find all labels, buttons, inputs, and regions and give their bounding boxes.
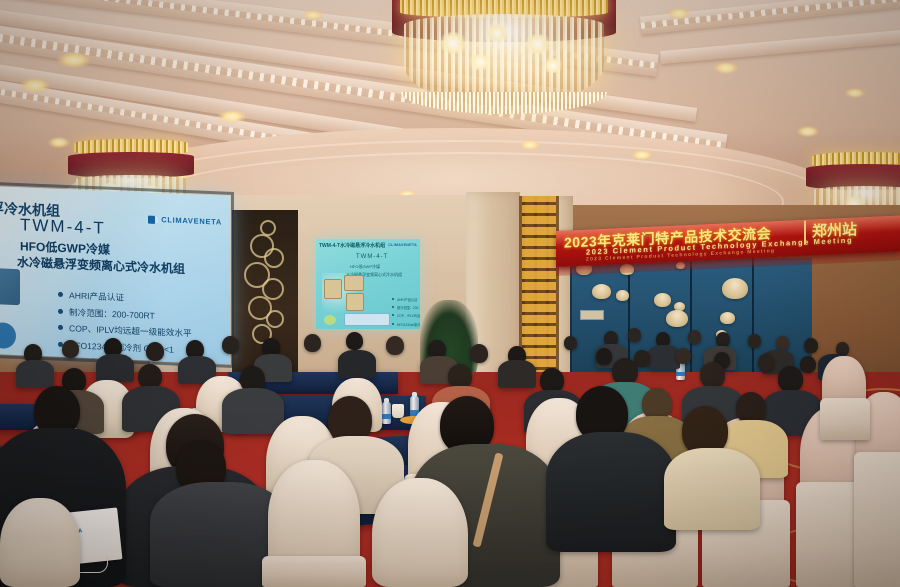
chandelier-glow — [468, 54, 492, 70]
shell-medallion-icon — [722, 278, 748, 299]
chandelier-glow — [524, 34, 552, 54]
shell-medallion-icon — [720, 312, 735, 324]
attendee-body — [222, 388, 284, 434]
paper-cup — [392, 404, 404, 418]
attendee-head — [612, 358, 638, 385]
attendee-head — [564, 336, 577, 350]
attendee-head — [776, 336, 789, 350]
attendee-head — [748, 334, 761, 348]
water-bottle — [382, 402, 391, 424]
secondary-slide-badge — [324, 315, 336, 325]
shell-medallion-icon — [654, 293, 671, 307]
attendee-head — [470, 344, 488, 363]
attendee-head — [346, 332, 363, 350]
secondary-slide-callout — [344, 313, 390, 326]
downlight — [48, 137, 70, 148]
attendee-body — [338, 350, 376, 378]
attendee-head — [700, 362, 725, 388]
attendee-body — [546, 432, 676, 552]
shell-medallion-icon — [592, 284, 611, 299]
chair-skirt — [854, 452, 900, 587]
wall-sign — [580, 310, 604, 320]
attendee-head — [716, 332, 730, 347]
attendee-head — [804, 338, 818, 353]
downlight — [845, 88, 865, 98]
secondary-slide-bullet: HFO1234ze制冷剂 GWP<1 — [392, 322, 420, 327]
secondary-slide-bullet: AHRI产品认证 — [392, 297, 420, 302]
banner-station: 郑州站 — [812, 218, 857, 241]
secondary-slide-subtitle-1: HFO低GWP冷媒 — [350, 264, 380, 270]
downlight — [57, 52, 91, 68]
attendee-head — [62, 340, 79, 358]
downlight — [668, 8, 690, 19]
flower-motif — [264, 248, 284, 268]
downlight — [20, 78, 50, 93]
attendee-head — [778, 366, 803, 392]
secondary-slide-title: TWM-4-T水冷磁悬浮冷水机组 — [319, 242, 385, 249]
downlight — [303, 10, 323, 20]
secondary-slide-model: TWM-4-T — [356, 254, 388, 260]
attendee-head — [800, 356, 816, 373]
chair — [268, 460, 360, 570]
chair — [0, 498, 80, 587]
downlight — [520, 140, 540, 150]
secondary-slide-bullet: 制冷范围：200-700RT — [392, 305, 420, 310]
downlight — [632, 150, 652, 160]
shell-medallion-icon — [666, 310, 688, 327]
chandelier-glow — [438, 32, 468, 54]
flower-motif — [260, 220, 276, 236]
flower-motif — [266, 310, 284, 328]
attendee-body — [96, 354, 134, 382]
attendee-head — [688, 330, 701, 344]
chair-skirt — [262, 556, 366, 587]
main-chandelier — [392, 0, 616, 122]
chandelier-glow — [542, 58, 564, 73]
conference-hall-photo: 2023年克莱门特产品技术交流会 2023 Clement Product Te… — [0, 0, 900, 587]
downlight — [714, 62, 738, 74]
secondary-climaveneta-logo-text: CLIMAVENETA — [388, 243, 417, 247]
attendee-head — [146, 342, 164, 361]
attendee-head — [304, 334, 321, 352]
banner-divider — [804, 221, 806, 245]
downlight — [797, 126, 819, 137]
attendee-head — [628, 328, 641, 342]
attendee-body — [498, 360, 536, 388]
attendee-body — [664, 448, 760, 530]
attendee-head — [222, 336, 239, 354]
downlight — [218, 110, 246, 123]
attendee-body — [16, 360, 54, 388]
chair — [372, 478, 468, 587]
chair-skirt — [820, 398, 870, 440]
secondary-projection-screen: TWM-4-T水冷磁悬浮冷水机组 CLIMAVENETA TWM-4-T HFO… — [316, 239, 420, 329]
chandelier-glow — [484, 24, 510, 42]
attendee-head — [386, 336, 404, 355]
attendee-head — [676, 348, 691, 364]
attendee-head — [758, 354, 774, 371]
shell-medallion-icon — [616, 290, 629, 301]
attendee-head — [596, 348, 612, 365]
secondary-slide-bullet: COP、IPLV均远超一级能效水平 — [392, 313, 420, 318]
